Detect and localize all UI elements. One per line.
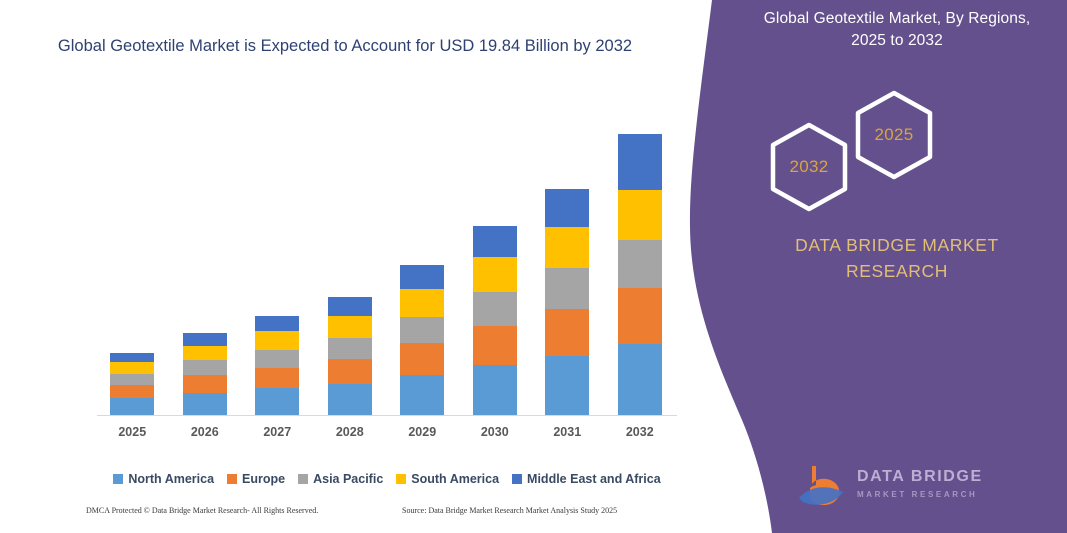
x-axis-label: 2031 — [539, 425, 595, 439]
legend-item[interactable]: South America — [396, 472, 499, 486]
chart-legend: North AmericaEuropeAsia PacificSouth Ame… — [97, 472, 677, 486]
bar-segment — [400, 289, 444, 317]
brand-name: DATA BRIDGE MARKET RESEARCH — [747, 232, 1047, 285]
x-axis-labels: 20252026202720282029203020312032 — [97, 425, 677, 445]
chart-panel: Global Geotextile Market is Expected to … — [0, 0, 700, 533]
data-bridge-logo-icon — [797, 464, 849, 510]
bar-group — [545, 189, 589, 415]
bar-segment — [618, 134, 662, 190]
legend-label: Europe — [242, 472, 285, 486]
side-panel: Global Geotextile Market, By Regions, 20… — [747, 0, 1067, 533]
bar-segment — [183, 360, 227, 375]
hexagon-group: 2025 2032 — [747, 88, 1047, 203]
x-axis-label: 2029 — [394, 425, 450, 439]
bar-segment — [183, 333, 227, 346]
footer-copyright: DMCA Protected © Data Bridge Market Rese… — [86, 506, 318, 515]
bar-segment — [328, 316, 372, 338]
bar-segment — [110, 385, 154, 398]
legend-label: North America — [128, 472, 214, 486]
bar-segment — [255, 331, 299, 349]
x-axis-label: 2030 — [467, 425, 523, 439]
bar-segment — [618, 344, 662, 415]
bar-segment — [473, 326, 517, 365]
bar-segment — [183, 393, 227, 415]
hexagon-2032: 2032 — [767, 120, 851, 214]
hexagon-2032-label: 2032 — [789, 157, 828, 177]
bar-segment — [255, 350, 299, 368]
bar-group — [328, 297, 372, 415]
bar-segment — [545, 227, 589, 269]
legend-swatch-icon — [298, 474, 308, 484]
bar-segment — [545, 309, 589, 356]
legend-item[interactable]: Middle East and Africa — [512, 472, 661, 486]
bar-segment — [545, 189, 589, 227]
bar-segment — [328, 359, 372, 384]
bar-segment — [618, 190, 662, 240]
bar-group — [400, 265, 444, 415]
bar-segment — [110, 398, 154, 415]
legend-item[interactable]: Asia Pacific — [298, 472, 383, 486]
x-axis-label: 2027 — [249, 425, 305, 439]
legend-label: Asia Pacific — [313, 472, 383, 486]
plot-area — [97, 120, 677, 416]
bar-segment — [255, 368, 299, 389]
bar-group — [110, 353, 154, 415]
bar-segment — [400, 317, 444, 344]
legend-label: South America — [411, 472, 499, 486]
bar-segment — [328, 297, 372, 315]
logo-wordmark: DATA BRIDGE MARKET RESEARCH — [857, 468, 1027, 499]
logo-primary-text: DATA BRIDGE — [857, 468, 1027, 486]
bar-segment — [255, 388, 299, 415]
bar-group — [618, 134, 662, 415]
chart-title: Global Geotextile Market is Expected to … — [40, 34, 650, 59]
x-axis-label: 2032 — [612, 425, 668, 439]
bar-segment — [400, 343, 444, 374]
legend-swatch-icon — [512, 474, 522, 484]
hexagon-2025: 2025 — [852, 88, 936, 182]
logo-secondary-text: MARKET RESEARCH — [857, 490, 1027, 499]
footer-source: Source: Data Bridge Market Research Mark… — [402, 506, 617, 515]
legend-item[interactable]: Europe — [227, 472, 285, 486]
x-axis-label: 2028 — [322, 425, 378, 439]
bar-segment — [328, 338, 372, 359]
bar-segment — [110, 362, 154, 373]
bar-group — [473, 226, 517, 415]
x-axis-label: 2026 — [177, 425, 233, 439]
bar-group — [255, 316, 299, 415]
bar-segment — [328, 384, 372, 415]
legend-swatch-icon — [113, 474, 123, 484]
bar-segment — [110, 374, 154, 385]
x-axis-label: 2025 — [104, 425, 160, 439]
bar-segment — [183, 346, 227, 361]
bar-segment — [110, 353, 154, 362]
bar-group — [183, 333, 227, 415]
bar-segment — [255, 316, 299, 332]
company-logo: DATA BRIDGE MARKET RESEARCH — [797, 462, 1027, 514]
bar-segment — [183, 375, 227, 393]
legend-swatch-icon — [396, 474, 406, 484]
bar-segment — [400, 375, 444, 415]
legend-item[interactable]: North America — [113, 472, 214, 486]
infographic-root: Global Geotextile Market is Expected to … — [0, 0, 1067, 533]
side-panel-title: Global Geotextile Market, By Regions, 20… — [747, 8, 1047, 52]
footer: DMCA Protected © Data Bridge Market Rese… — [0, 506, 700, 528]
bar-segment — [473, 365, 517, 415]
bar-segment — [473, 226, 517, 257]
bar-series-container — [97, 120, 677, 415]
legend-swatch-icon — [227, 474, 237, 484]
bar-segment — [473, 257, 517, 292]
bar-segment — [473, 292, 517, 326]
bar-segment — [400, 265, 444, 289]
bar-segment — [618, 288, 662, 344]
bar-segment — [618, 240, 662, 288]
hexagon-2025-label: 2025 — [874, 125, 913, 145]
bar-segment — [545, 356, 589, 415]
x-axis-line — [97, 415, 677, 416]
bar-segment — [545, 268, 589, 308]
legend-label: Middle East and Africa — [527, 472, 661, 486]
